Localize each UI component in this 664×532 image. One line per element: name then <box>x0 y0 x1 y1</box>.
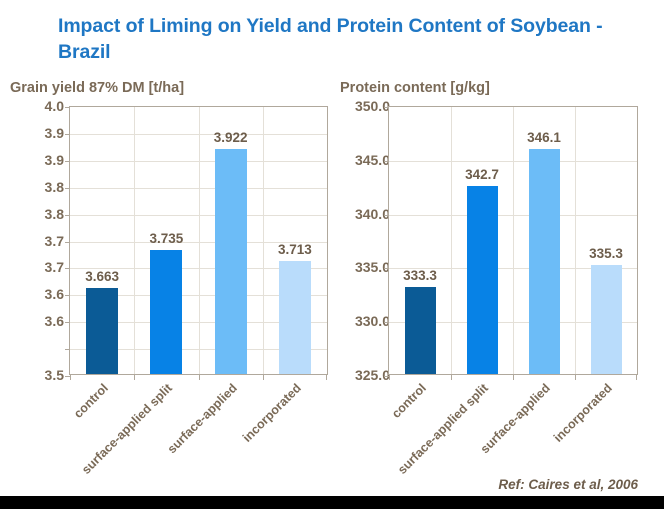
x-tick-mark <box>389 375 390 380</box>
y-tick-mark <box>65 295 70 296</box>
y-tick-mark <box>65 242 70 243</box>
bar-value-label: 346.1 <box>527 130 561 145</box>
y-tick-label: 325.0 <box>355 367 390 383</box>
plot-area-grain-yield: 3.6633.7353.9223.713 <box>69 106 328 375</box>
y-tick-mark <box>65 134 70 135</box>
category-divider <box>513 107 514 374</box>
x-tick-mark <box>199 375 200 380</box>
bar-value-label: 333.3 <box>403 268 437 283</box>
bar-value-label: 342.7 <box>465 167 499 182</box>
y-tick-label: 3.7 <box>45 259 64 275</box>
x-tick-mark <box>636 375 637 380</box>
category-divider <box>199 107 200 374</box>
bar[interactable] <box>279 261 311 374</box>
category-divider <box>451 107 452 374</box>
y-tick-mark <box>65 349 70 350</box>
y-tick-mark <box>384 215 389 216</box>
y-tick-label: 3.8 <box>45 179 64 195</box>
y-tick-label: 3.8 <box>45 206 64 222</box>
bar[interactable] <box>467 186 498 374</box>
y-tick-label: 3.6 <box>45 286 64 302</box>
category-divider <box>263 107 264 374</box>
bar[interactable] <box>591 265 622 374</box>
category-divider <box>134 107 135 374</box>
bar[interactable] <box>405 287 436 374</box>
bar[interactable] <box>215 149 247 374</box>
bar-value-label: 335.3 <box>589 246 623 261</box>
y-axis-protein-content: 350.0345.0340.0335.0330.0325.0 <box>338 106 390 375</box>
y-tick-mark <box>65 268 70 269</box>
y-axis-grain-yield: 4.03.93.93.83.83.73.73.63.63.5 <box>8 106 64 375</box>
y-tick-label: 3.5 <box>45 367 64 383</box>
y-tick-mark <box>384 322 389 323</box>
y-tick-label: 350.0 <box>355 98 390 114</box>
y-tick-label: 345.0 <box>355 152 390 168</box>
y-tick-label: 340.0 <box>355 206 390 222</box>
x-tick-mark <box>513 375 514 380</box>
bar[interactable] <box>150 250 182 374</box>
y-tick-label: 330.0 <box>355 313 390 329</box>
x-category-label: incorporated <box>152 381 303 532</box>
bottom-band <box>0 496 664 509</box>
y-tick-label: 3.9 <box>45 125 64 141</box>
y-tick-mark <box>384 107 389 108</box>
plot-area-protein-content: 333.3342.7346.1335.3 <box>388 106 638 375</box>
y-tick-mark <box>65 322 70 323</box>
y-tick-mark <box>65 215 70 216</box>
y-tick-label: 3.6 <box>45 313 64 329</box>
y-tick-label: 3.7 <box>45 233 64 249</box>
reference-citation: Ref: Caires et al, 2006 <box>498 477 638 492</box>
y-tick-mark <box>65 161 70 162</box>
category-divider <box>575 107 576 374</box>
page-title: Impact of Liming on Yield and Protein Co… <box>58 14 628 66</box>
y-tick-label: 4.0 <box>45 98 64 114</box>
y-tick-mark <box>65 188 70 189</box>
x-tick-mark <box>134 375 135 380</box>
x-tick-mark <box>70 375 71 380</box>
bar-value-label: 3.713 <box>278 242 312 257</box>
chart-grain-yield: Grain yield 87% DM [t/ha] 4.03.93.93.83.… <box>8 78 330 375</box>
bar[interactable] <box>529 149 560 374</box>
x-tick-mark <box>263 375 264 380</box>
x-tick-mark <box>451 375 452 380</box>
bar-value-label: 3.922 <box>214 130 248 145</box>
y-tick-mark <box>65 107 70 108</box>
y-tick-label: 335.0 <box>355 259 390 275</box>
chart-protein-content: Protein content [g/kg] 350.0345.0340.033… <box>338 78 656 375</box>
bar-value-label: 3.735 <box>149 231 183 246</box>
bar[interactable] <box>86 288 118 374</box>
x-tick-mark <box>575 375 576 380</box>
chart-axis-title-protein-content: Protein content [g/kg] <box>340 78 656 98</box>
x-tick-mark <box>326 375 327 380</box>
y-tick-mark <box>384 268 389 269</box>
bar-value-label: 3.663 <box>85 269 119 284</box>
y-tick-label: 3.9 <box>45 152 64 168</box>
y-tick-mark <box>384 161 389 162</box>
chart-axis-title-grain-yield: Grain yield 87% DM [t/ha] <box>10 78 330 98</box>
